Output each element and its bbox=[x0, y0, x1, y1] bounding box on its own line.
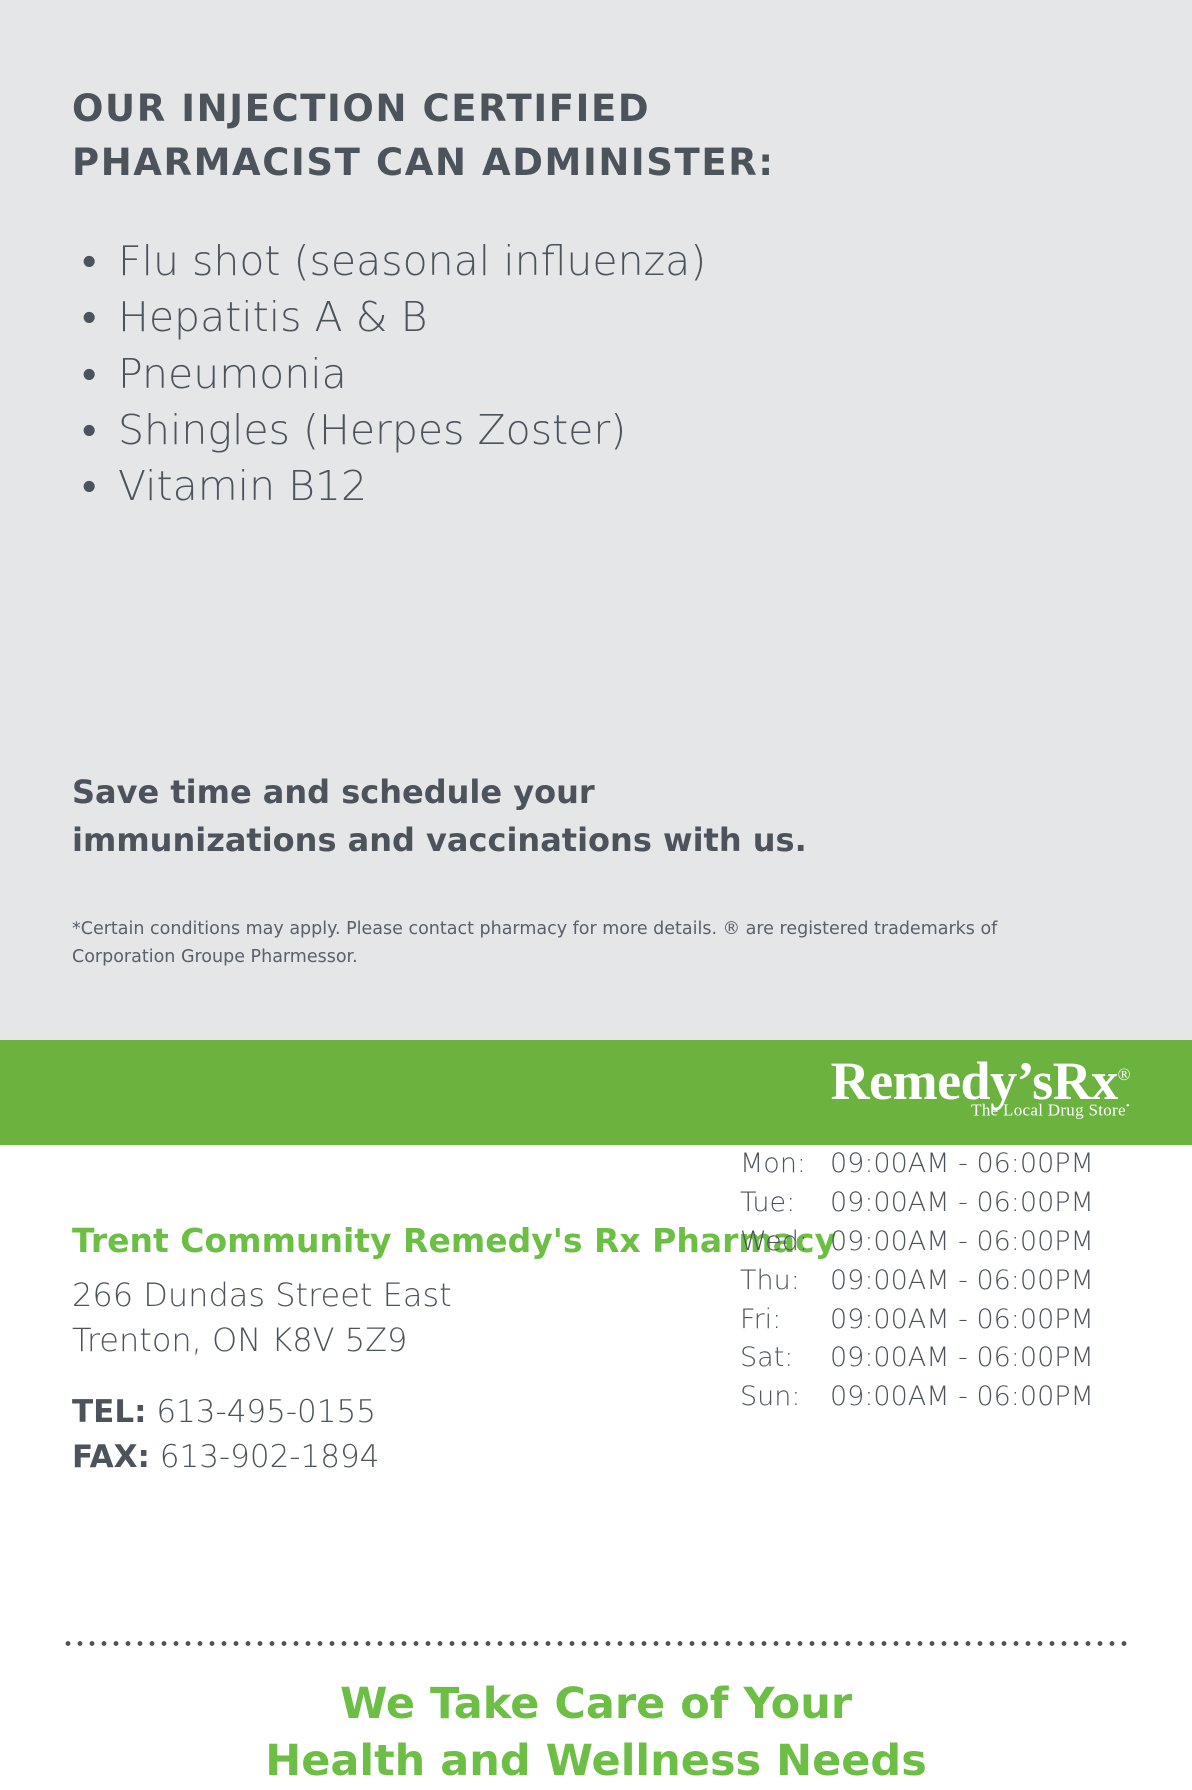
service-label: Flu shot (seasonal influenza) bbox=[118, 237, 706, 285]
disclaimer-line-2: Corporation Groupe Pharmessor. bbox=[72, 947, 358, 967]
hours-time-value: 09:00AM - 06:00PM bbox=[830, 1145, 1094, 1184]
address-block: 266 Dundas Street East Trenton, ON K8V 5… bbox=[72, 1273, 452, 1364]
fax-row: FAX: 613-902-1894 bbox=[72, 1435, 379, 1480]
trademark-icon: • bbox=[1126, 1100, 1130, 1112]
hours-time-value: 09:00AM - 06:00PM bbox=[830, 1184, 1094, 1223]
disclaimer-line-1: *Certain conditions may apply. Please co… bbox=[72, 919, 997, 939]
hours-time-value: 09:00AM - 06:00PM bbox=[830, 1262, 1094, 1301]
hours-time-value: 09:00AM - 06:00PM bbox=[830, 1223, 1094, 1262]
hours-day-label: Tue: bbox=[740, 1184, 830, 1223]
cta-line-2: immunizations and vaccinations with us. bbox=[72, 821, 807, 859]
hours-day-label: Wed: bbox=[740, 1223, 830, 1262]
table-row: Wed: 09:00AM - 06:00PM bbox=[740, 1223, 1094, 1262]
store-name: Trent Community Remedy's Rx Pharmacy bbox=[72, 1221, 836, 1260]
hours-day-label: Sun: bbox=[740, 1378, 830, 1417]
service-label: Hepatitis A & B bbox=[118, 293, 427, 341]
table-row: Sat: 09:00AM - 06:00PM bbox=[740, 1339, 1094, 1378]
hours-day-label: Thu: bbox=[740, 1262, 830, 1301]
table-row: Tue: 09:00AM - 06:00PM bbox=[740, 1184, 1094, 1223]
registered-trademark-icon: ® bbox=[1118, 1065, 1130, 1084]
address-line-2: Trenton, ON K8V 5Z9 bbox=[72, 1321, 407, 1359]
hours-day-label: Sat: bbox=[740, 1339, 830, 1378]
list-item: • Vitamin B12 bbox=[72, 458, 1120, 514]
table-row: Sun: 09:00AM - 06:00PM bbox=[740, 1378, 1094, 1417]
address-line-1: 266 Dundas Street East bbox=[72, 1276, 452, 1314]
service-label: Shingles (Herpes Zoster) bbox=[118, 406, 626, 454]
store-hours-table: Mon: 09:00AM - 06:00PM Tue: 09:00AM - 06… bbox=[740, 1145, 1094, 1417]
fax-label: FAX: bbox=[72, 1439, 150, 1475]
hours-day-label: Mon: bbox=[740, 1145, 830, 1184]
list-item: • Pneumonia bbox=[72, 346, 1120, 402]
headline-line-1: OUR INJECTION CERTIFIED bbox=[72, 87, 650, 130]
cta-line-1: Save time and schedule your bbox=[72, 773, 595, 811]
hours-day-label: Fri: bbox=[740, 1301, 830, 1340]
table-row: Fri: 09:00AM - 06:00PM bbox=[740, 1301, 1094, 1340]
page-title: OUR INJECTION CERTIFIED PHARMACIST CAN A… bbox=[72, 0, 862, 189]
bullet-icon: • bbox=[82, 458, 96, 514]
list-item: • Flu shot (seasonal influenza) bbox=[72, 233, 1120, 289]
hours-time-value: 09:00AM - 06:00PM bbox=[830, 1301, 1094, 1340]
bullet-icon: • bbox=[82, 289, 96, 345]
footer-tagline-line-1: We Take Care of Your bbox=[340, 1679, 852, 1729]
telephone-row: TEL: 613-495-0155 bbox=[72, 1390, 379, 1435]
bullet-icon: • bbox=[82, 402, 96, 458]
table-row: Thu: 09:00AM - 06:00PM bbox=[740, 1262, 1094, 1301]
services-list: • Flu shot (seasonal influenza) • Hepati… bbox=[72, 189, 1120, 514]
telephone-label: TEL: bbox=[72, 1394, 146, 1430]
hours-time-value: 09:00AM - 06:00PM bbox=[830, 1378, 1094, 1417]
table-row: Mon: 09:00AM - 06:00PM bbox=[740, 1145, 1094, 1184]
service-label: Pneumonia bbox=[118, 350, 347, 398]
bullet-icon: • bbox=[82, 346, 96, 402]
service-label: Vitamin B12 bbox=[118, 462, 367, 510]
hours-time-value: 09:00AM - 06:00PM bbox=[830, 1339, 1094, 1378]
pharmacy-flyer-page: OUR INJECTION CERTIFIED PHARMACIST CAN A… bbox=[0, 0, 1192, 1785]
headline-line-2: PHARMACIST CAN ADMINISTER: bbox=[72, 141, 775, 184]
footer-tagline: We Take Care of Your Health and Wellness… bbox=[0, 1676, 1192, 1790]
brand-tagline-text: The Local Drug Store bbox=[971, 1101, 1126, 1120]
footer-tagline-line-2: Health and Wellness Needs bbox=[265, 1736, 927, 1786]
dotted-divider bbox=[62, 1640, 1130, 1647]
fax-value: 613-902-1894 bbox=[160, 1439, 380, 1475]
call-to-action: Save time and schedule your immunization… bbox=[72, 768, 892, 864]
brand-banner: Remedy’sRx® The Local Drug Store• bbox=[0, 1040, 1192, 1145]
services-panel: OUR INJECTION CERTIFIED PHARMACIST CAN A… bbox=[0, 0, 1192, 1040]
remedysrx-logo: Remedy’sRx® The Local Drug Store• bbox=[831, 1052, 1130, 1119]
disclaimer-text: *Certain conditions may apply. Please co… bbox=[72, 915, 1102, 971]
phone-block: TEL: 613-495-0155 FAX: 613-902-1894 bbox=[72, 1390, 379, 1480]
bullet-icon: • bbox=[82, 233, 96, 289]
list-item: • Hepatitis A & B bbox=[72, 289, 1120, 345]
list-item: • Shingles (Herpes Zoster) bbox=[72, 402, 1120, 458]
telephone-value[interactable]: 613-495-0155 bbox=[156, 1394, 376, 1430]
